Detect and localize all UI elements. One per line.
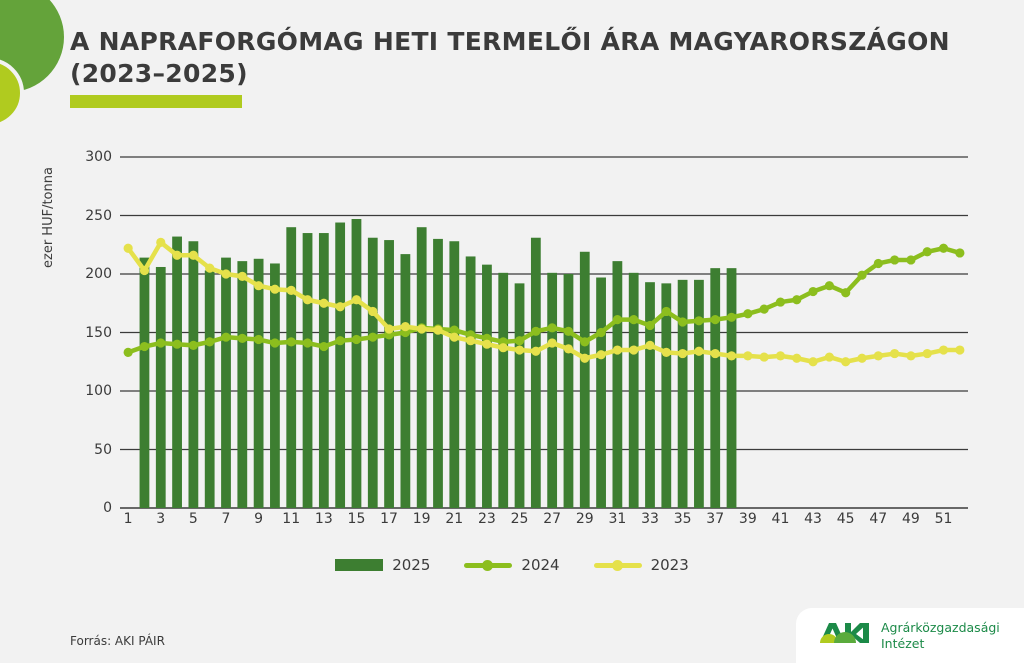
- marker-2023: [890, 349, 899, 358]
- bar-2025: [727, 268, 737, 508]
- marker-2023: [189, 251, 198, 260]
- marker-2024: [711, 315, 720, 324]
- marker-2024: [221, 333, 230, 342]
- marker-2023: [923, 349, 932, 358]
- bar-2025: [303, 233, 313, 508]
- marker-2023: [450, 333, 459, 342]
- marker-2023: [825, 352, 834, 361]
- bar-2025: [352, 219, 362, 508]
- bar-2025: [710, 268, 720, 508]
- x-tick-label: 9: [254, 511, 263, 527]
- marker-2024: [808, 287, 817, 296]
- marker-2024: [743, 309, 752, 318]
- legend-item-2025[interactable]: 2025: [335, 556, 430, 574]
- aki-logo-text: Agrárközgazdasági Intézet: [881, 620, 1000, 651]
- marker-2023: [874, 351, 883, 360]
- marker-2023: [678, 349, 687, 358]
- line-2023: [128, 242, 960, 361]
- marker-2023: [727, 351, 736, 360]
- x-tick-label: 13: [315, 511, 333, 527]
- bar-2025: [678, 280, 688, 508]
- bar-2025: [564, 274, 574, 508]
- marker-2024: [841, 288, 850, 297]
- marker-2023: [841, 357, 850, 366]
- bar-2025: [384, 240, 394, 508]
- x-tick-label: 25: [511, 511, 529, 527]
- marker-2024: [955, 248, 964, 257]
- y-tick-label: 300: [52, 149, 112, 165]
- bar-2025: [270, 263, 280, 508]
- marker-2023: [401, 322, 410, 331]
- marker-2024: [254, 335, 263, 344]
- marker-2024: [156, 338, 165, 347]
- legend-label: 2023: [651, 556, 689, 574]
- marker-2024: [857, 271, 866, 280]
- x-tick-label: 5: [189, 511, 198, 527]
- marker-2023: [662, 348, 671, 357]
- y-tick-label: 150: [52, 325, 112, 341]
- marker-2023: [254, 281, 263, 290]
- marker-2023: [531, 347, 540, 356]
- x-tick-label: 15: [348, 511, 366, 527]
- marker-2023: [760, 352, 769, 361]
- bar-2025: [482, 265, 492, 508]
- line-2024: [128, 248, 960, 352]
- x-tick-label: 19: [413, 511, 431, 527]
- x-tick-label: 51: [935, 511, 953, 527]
- marker-2024: [939, 244, 948, 253]
- x-tick-label: 41: [772, 511, 790, 527]
- marker-2023: [319, 299, 328, 308]
- marker-2023: [564, 344, 573, 353]
- aki-logo-mark: [818, 621, 872, 651]
- marker-2023: [336, 302, 345, 311]
- bar-2025: [466, 256, 476, 508]
- marker-2023: [140, 266, 149, 275]
- legend-swatch-bar-icon: [335, 559, 383, 571]
- x-tick-label: 43: [804, 511, 822, 527]
- marker-2023: [955, 345, 964, 354]
- legend-swatch-line-icon: [594, 559, 642, 571]
- marker-2023: [417, 324, 426, 333]
- x-tick-label: 37: [706, 511, 724, 527]
- marker-2023: [156, 238, 165, 247]
- x-tick-label: 45: [837, 511, 855, 527]
- marker-2023: [433, 326, 442, 335]
- x-tick-label: 7: [222, 511, 231, 527]
- bar-2025: [140, 258, 150, 508]
- marker-2024: [319, 342, 328, 351]
- marker-2023: [792, 354, 801, 363]
- marker-2023: [368, 307, 377, 316]
- marker-2024: [662, 307, 671, 316]
- marker-2023: [515, 345, 524, 354]
- marker-2024: [515, 336, 524, 345]
- marker-2024: [890, 255, 899, 264]
- marker-2023: [906, 351, 915, 360]
- bar-2025: [156, 267, 166, 508]
- aki-logo: Agrárközgazdasági Intézet: [796, 608, 1024, 663]
- marker-2024: [629, 315, 638, 324]
- legend-label: 2025: [392, 556, 430, 574]
- bar-2025: [580, 252, 590, 508]
- marker-2024: [548, 323, 557, 332]
- marker-2023: [629, 345, 638, 354]
- x-tick-label: 49: [902, 511, 920, 527]
- marker-2024: [368, 333, 377, 342]
- marker-2023: [580, 354, 589, 363]
- bar-2025: [254, 259, 264, 508]
- bar-2025: [596, 278, 606, 508]
- marker-2023: [694, 347, 703, 356]
- marker-2023: [172, 251, 181, 260]
- bar-2025: [645, 282, 655, 508]
- bar-2025: [449, 241, 459, 508]
- bar-2025: [629, 273, 639, 508]
- marker-2023: [743, 351, 752, 360]
- marker-2024: [270, 338, 279, 347]
- marker-2023: [613, 345, 622, 354]
- marker-2024: [906, 255, 915, 264]
- x-tick-label: 11: [282, 511, 300, 527]
- marker-2024: [874, 259, 883, 268]
- legend-swatch-line-icon: [464, 559, 512, 571]
- x-tick-label: 39: [739, 511, 757, 527]
- bar-2025: [612, 261, 622, 508]
- marker-2024: [189, 341, 198, 350]
- marker-2023: [221, 269, 230, 278]
- bar-2025: [433, 239, 443, 508]
- marker-2023: [352, 295, 361, 304]
- marker-2023: [857, 354, 866, 363]
- x-tick-label: 3: [156, 511, 165, 527]
- legend-item-2023[interactable]: 2023: [594, 556, 689, 574]
- bar-2025: [172, 237, 182, 508]
- infographic-page: A NAPRAFORGÓMAG HETI TERMELŐI ÁRA MAGYAR…: [0, 0, 1024, 663]
- bar-2025: [335, 223, 345, 508]
- marker-2023: [384, 324, 393, 333]
- x-tick-label: 23: [478, 511, 496, 527]
- marker-2024: [140, 342, 149, 351]
- x-tick-label: 1: [124, 511, 133, 527]
- marker-2024: [205, 337, 214, 346]
- x-tick-label: 31: [608, 511, 626, 527]
- y-tick-label: 100: [52, 383, 112, 399]
- bar-2025: [417, 227, 427, 508]
- marker-2024: [825, 281, 834, 290]
- marker-2024: [694, 316, 703, 325]
- marker-2024: [287, 337, 296, 346]
- aki-logo-text-line1: Agrárközgazdasági: [881, 620, 1000, 635]
- bar-2025: [188, 241, 198, 508]
- chart-legend: 202520242023: [0, 556, 1024, 574]
- marker-2024: [923, 247, 932, 256]
- marker-2023: [205, 264, 214, 273]
- marker-2023: [776, 351, 785, 360]
- marker-2024: [678, 317, 687, 326]
- x-tick-label: 47: [869, 511, 887, 527]
- bar-2025: [515, 283, 525, 508]
- x-tick-label: 35: [674, 511, 692, 527]
- marker-2023: [482, 340, 491, 349]
- bar-2025: [547, 273, 557, 508]
- bar-2025: [319, 233, 329, 508]
- bar-2025: [221, 258, 231, 508]
- marker-2023: [548, 338, 557, 347]
- marker-2024: [596, 328, 605, 337]
- marker-2024: [580, 337, 589, 346]
- marker-2024: [564, 327, 573, 336]
- aki-logo-text-line2: Intézet: [881, 636, 1000, 651]
- y-tick-label: 50: [52, 442, 112, 458]
- marker-2024: [124, 348, 133, 357]
- bar-2025: [286, 227, 296, 508]
- marker-2023: [270, 285, 279, 294]
- marker-2024: [727, 313, 736, 322]
- bar-2025: [400, 254, 410, 508]
- marker-2024: [531, 327, 540, 336]
- marker-2024: [352, 335, 361, 344]
- bar-2025: [498, 273, 508, 508]
- y-tick-label: 200: [52, 266, 112, 282]
- x-tick-label: 29: [576, 511, 594, 527]
- bar-2025: [531, 238, 541, 508]
- x-tick-label: 17: [380, 511, 398, 527]
- marker-2023: [466, 336, 475, 345]
- y-tick-label: 0: [52, 500, 112, 516]
- marker-2024: [776, 297, 785, 306]
- marker-2023: [711, 349, 720, 358]
- marker-2023: [287, 286, 296, 295]
- marker-2023: [124, 244, 133, 253]
- bar-2025: [368, 238, 378, 508]
- marker-2024: [303, 338, 312, 347]
- x-tick-label: 33: [641, 511, 659, 527]
- bar-2025: [694, 280, 704, 508]
- marker-2023: [596, 350, 605, 359]
- marker-2024: [645, 321, 654, 330]
- marker-2024: [792, 295, 801, 304]
- legend-label: 2024: [521, 556, 559, 574]
- marker-2023: [303, 295, 312, 304]
- x-tick-label: 27: [543, 511, 561, 527]
- marker-2023: [808, 357, 817, 366]
- marker-2023: [238, 272, 247, 281]
- legend-item-2024[interactable]: 2024: [464, 556, 559, 574]
- marker-2024: [760, 305, 769, 314]
- marker-2024: [238, 334, 247, 343]
- source-note: Forrás: AKI PÁIR: [70, 634, 165, 648]
- bar-2025: [237, 261, 247, 508]
- bar-2025: [205, 270, 215, 508]
- marker-2024: [613, 315, 622, 324]
- marker-2024: [336, 336, 345, 345]
- marker-2023: [499, 343, 508, 352]
- marker-2023: [645, 341, 654, 350]
- y-tick-label: 250: [52, 208, 112, 224]
- marker-2023: [939, 345, 948, 354]
- marker-2024: [172, 340, 181, 349]
- x-tick-label: 21: [445, 511, 463, 527]
